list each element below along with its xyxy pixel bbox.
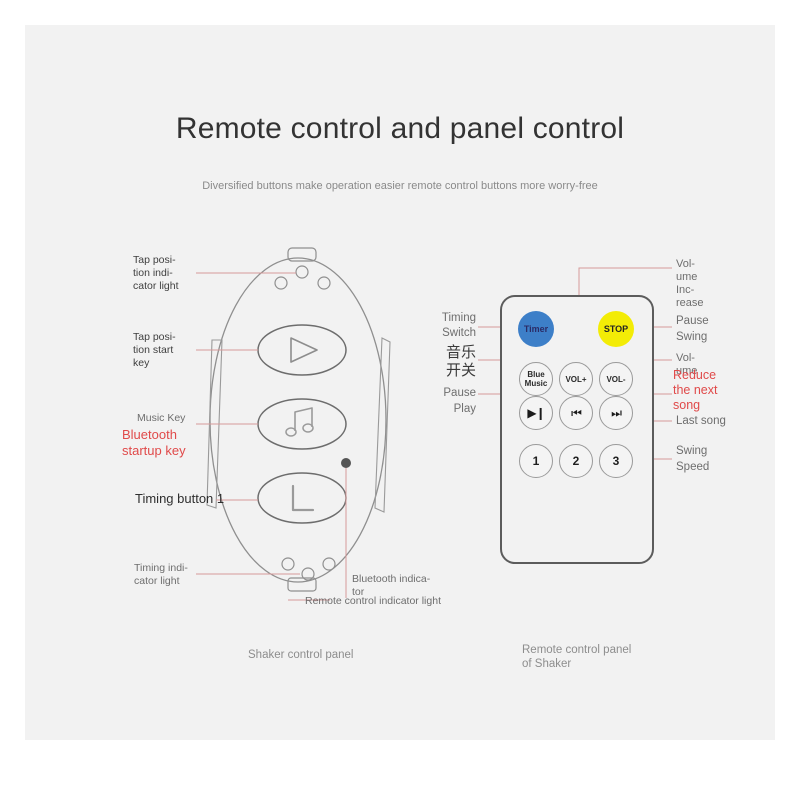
previous-track-icon: ⏮	[571, 406, 581, 421]
label-tap-indicator: Tap posi- tion indi- cator light	[133, 254, 179, 293]
remote-button-volume-down[interactable]: VOL-	[599, 362, 633, 396]
label-swing-speed: Swing Speed	[676, 443, 709, 475]
label-pause-swing: Pause Swing	[676, 313, 709, 345]
label-tap-start-key: Tap posi- tion start key	[133, 331, 176, 370]
volume-up-label: VOL+	[565, 375, 586, 384]
caption-remote-line2: of Shaker	[522, 657, 631, 671]
remote-button-volume-up[interactable]: VOL+	[559, 362, 593, 396]
page-subtitle: Diversified buttons make operation easie…	[0, 180, 800, 192]
remote-button-timer-label: Timer	[524, 324, 548, 334]
speed-1-label: 1	[533, 454, 540, 468]
remote-button-speed-3[interactable]: 3	[599, 444, 633, 478]
remote-control-body: Timer STOP Blue Music VOL+ VOL- ▶❙ ⏮ ⏭ 1…	[500, 295, 654, 564]
blue-music-label-line2: Music	[525, 379, 548, 388]
next-track-icon: ⏭	[611, 406, 621, 421]
label-timing-switch: Timing Switch	[408, 311, 476, 341]
label-music-switch-cn: 音乐 开关	[400, 344, 476, 380]
remote-button-next[interactable]: ⏭	[599, 396, 633, 430]
volume-down-label: VOL-	[606, 375, 625, 384]
remote-button-speed-2[interactable]: 2	[559, 444, 593, 478]
label-timing-indicator: Timing indi- cator light	[134, 562, 188, 588]
remote-button-speed-1[interactable]: 1	[519, 444, 553, 478]
blue-music-label-line1: Blue	[527, 370, 544, 379]
label-pause-play: Pause Play	[404, 385, 476, 417]
remote-button-previous[interactable]: ⏮	[559, 396, 593, 430]
caption-remote-line1: Remote control panel	[522, 643, 631, 657]
page-title: Remote control and panel control	[0, 112, 800, 146]
remote-button-timer[interactable]: Timer	[518, 311, 554, 347]
play-pause-icon: ▶❙	[527, 406, 544, 420]
label-last-song: Last song	[676, 415, 726, 428]
remote-button-stop-label: STOP	[604, 324, 628, 334]
label-music-key: Music Key	[137, 412, 185, 425]
label-timing-button-1: Timing button 1	[135, 492, 224, 505]
label-volume-increase: Vol- ume Inc- rease	[676, 258, 704, 310]
speed-2-label: 2	[573, 454, 580, 468]
caption-remote-control-panel: Remote control panel of Shaker	[522, 643, 631, 671]
caption-shaker-control-panel: Shaker control panel	[248, 648, 353, 662]
label-reduce-next-song: Reduce the next song	[673, 368, 717, 413]
speed-3-label: 3	[613, 454, 620, 468]
label-bluetooth-startup-key: Bluetooth startup key	[122, 427, 186, 459]
slide-canvas: Remote control and panel control Diversi…	[0, 0, 800, 800]
remote-button-blue-music[interactable]: Blue Music	[519, 362, 553, 396]
remote-button-play-pause[interactable]: ▶❙	[519, 396, 553, 430]
label-remote-control-indicator-light: Remote control indicator light	[305, 595, 441, 608]
remote-button-stop[interactable]: STOP	[598, 311, 634, 347]
